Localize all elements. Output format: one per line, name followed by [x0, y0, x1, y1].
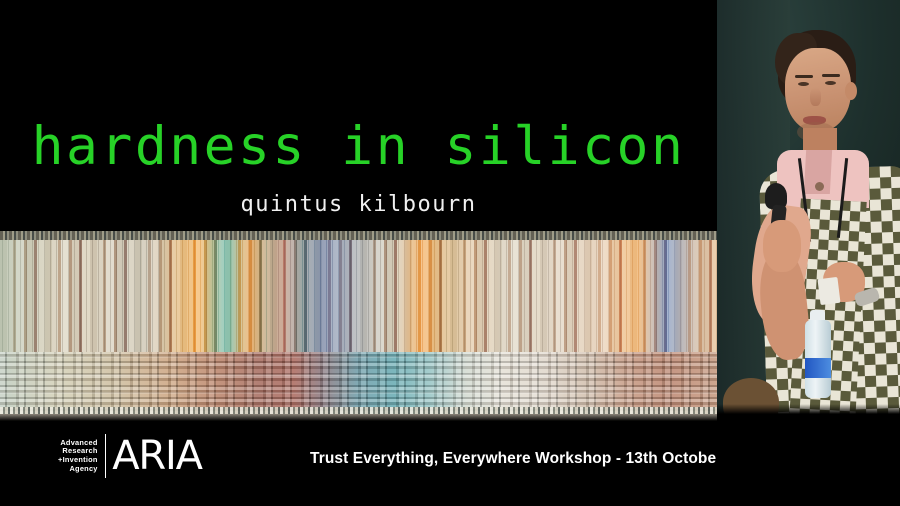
- aria-logo-wordmark-lines: Advanced Research +Invention Agency: [58, 436, 105, 476]
- die-stripe-tint: [0, 240, 717, 352]
- speaker-eye-left: [798, 82, 809, 86]
- speaker-feed-bottom-fade: [717, 404, 900, 414]
- speaker-hand-holding-mic: [763, 220, 801, 272]
- speaker-shirt-button: [815, 182, 824, 191]
- die-stripe-field: [0, 240, 717, 352]
- speaker-eyebrow-right: [822, 74, 840, 77]
- speaker-ear: [845, 82, 857, 100]
- aria-logo-mark: ARIA: [106, 436, 202, 476]
- water-bottle-label: [805, 358, 831, 378]
- aria-logo-line-4: Agency: [69, 465, 97, 474]
- speaker-nose: [810, 88, 821, 106]
- page-title: hardness in silicon: [0, 118, 717, 176]
- die-bond-pad-strip: [0, 231, 717, 240]
- speaker-lanyard-badge: [817, 277, 840, 305]
- die-logic-row: [0, 392, 717, 394]
- silicon-die-shot-image: [0, 231, 717, 421]
- workshop-title-line: Trust Everything, Everywhere Workshop - …: [310, 450, 717, 468]
- speaker-panel: [717, 0, 900, 506]
- die-logic-block-band: [0, 352, 717, 414]
- speaker-panel-footer: [717, 414, 900, 506]
- slide-area: hardness in silicon quintus kilbourn: [0, 0, 717, 506]
- title-block: hardness in silicon quintus kilbourn: [0, 0, 717, 231]
- presentation-screenshot: hardness in silicon quintus kilbourn: [0, 0, 900, 506]
- die-logic-cells: [0, 352, 717, 414]
- speaker-eye-right: [825, 81, 836, 85]
- die-bottom-pad-strip: [0, 407, 717, 414]
- speaker-camera-feed: [717, 0, 900, 414]
- presenter-name: quintus kilbourn: [0, 192, 717, 218]
- aria-logo: Advanced Research +Invention Agency ARIA: [58, 434, 202, 478]
- die-bottom-fade: [0, 414, 717, 421]
- speaker-eyebrow-left: [795, 75, 813, 78]
- die-logic-row: [0, 356, 717, 358]
- die-logic-row: [0, 374, 717, 376]
